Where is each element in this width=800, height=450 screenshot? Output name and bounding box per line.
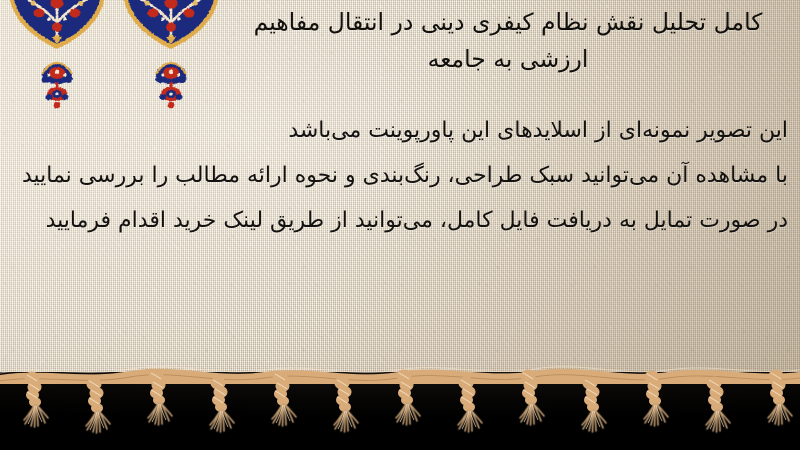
body-line-1: این تصویر نمونه‌ای از اسلایدهای این پاور…: [12, 108, 788, 153]
body-line-3: در صورت تمایل به دریافت فایل کامل، می‌تو…: [12, 198, 788, 243]
body-line-2: با مشاهده آن می‌توانید سبک طراحی، رنگ‌بن…: [12, 153, 788, 198]
title-line-2: ارزشی به جامعه: [428, 45, 589, 73]
slide-title: کامل تحلیل نقش نظام کیفری دینی در انتقال…: [228, 4, 788, 78]
presentation-slide: کامل تحلیل نقش نظام کیفری دینی در انتقال…: [0, 0, 800, 450]
slide-content: کامل تحلیل نقش نظام کیفری دینی در انتقال…: [0, 0, 800, 450]
slide-body-text: این تصویر نمونه‌ای از اسلایدهای این پاور…: [12, 108, 788, 243]
title-line-1: کامل تحلیل نقش نظام کیفری دینی در انتقال…: [254, 8, 763, 36]
